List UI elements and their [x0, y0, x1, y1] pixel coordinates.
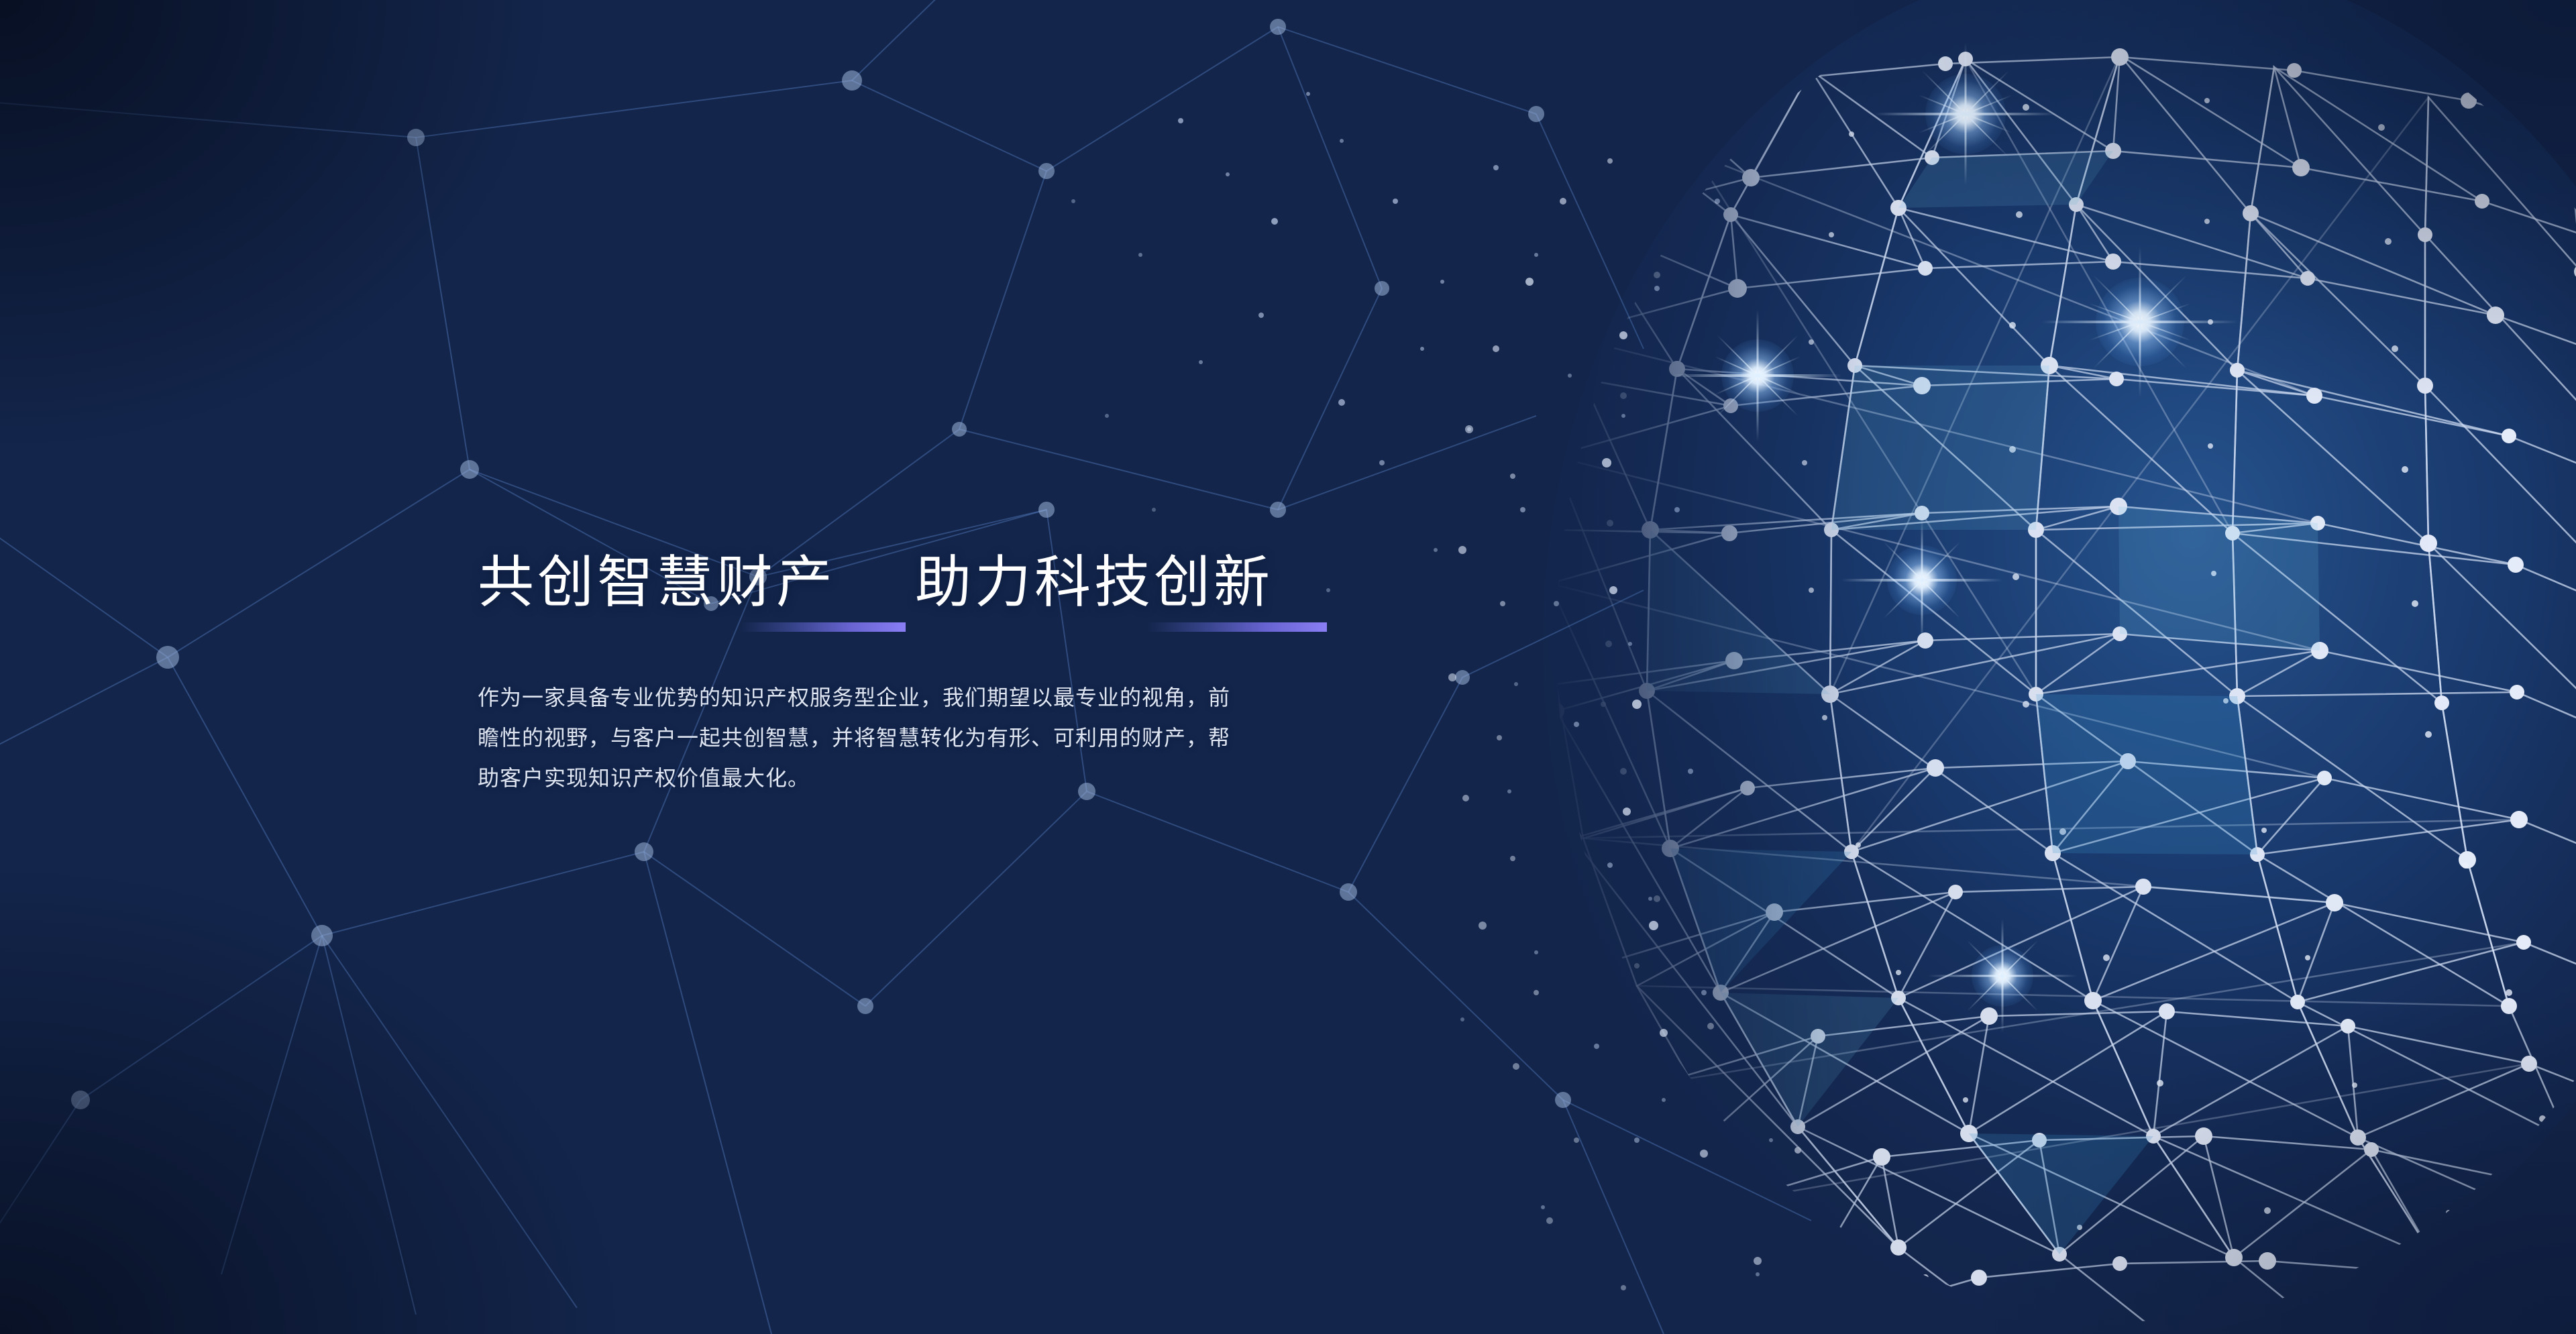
headline-underline-one	[741, 622, 906, 632]
headline-phrase-one: 共创智慧财产	[478, 545, 836, 620]
page-title: 共创智慧财产 助力科技创新	[478, 545, 1484, 620]
hero-text-block: 共创智慧财产 助力科技创新 作为一家具备专业优势的知识产权服务型企业，我们期望以…	[478, 545, 1484, 820]
headline-phrase-two: 助力科技创新	[915, 545, 1273, 620]
headline-underline-two	[1147, 622, 1327, 632]
headline-phrase-two-group: 助力科技创新	[915, 545, 1273, 620]
hero-description: 作为一家具备专业优势的知识产权服务型企业，我们期望以最专业的视角，前瞻性的视野，…	[478, 677, 1250, 798]
headline-phrase-one-group: 共创智慧财产	[478, 545, 836, 620]
hero-banner: 共创智慧财产 助力科技创新 作为一家具备专业优势的知识产权服务型企业，我们期望以…	[0, 0, 2576, 1334]
